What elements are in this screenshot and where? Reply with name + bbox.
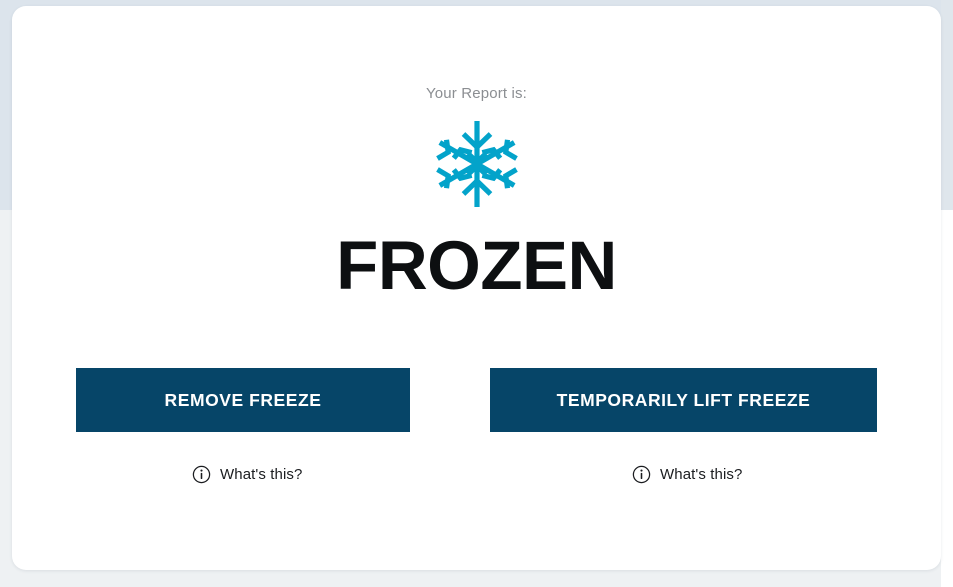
report-status-card: Your Report is:: [12, 6, 941, 570]
remove-freeze-button[interactable]: REMOVE FREEZE: [76, 368, 410, 432]
info-circle-icon: [192, 465, 211, 484]
snowflake-icon: [12, 114, 941, 214]
helper-link-label: What's this?: [220, 466, 302, 483]
action-buttons-row: REMOVE FREEZE TEMPORARILY LIFT FREEZE: [12, 368, 941, 434]
report-status-word: FROZEN: [12, 225, 941, 307]
remove-freeze-whats-this-link[interactable]: What's this?: [192, 461, 302, 487]
page-viewport: Your Report is:: [0, 0, 953, 587]
right-gutter: [941, 0, 953, 587]
info-circle-icon: [632, 465, 651, 484]
helper-link-label: What's this?: [660, 466, 742, 483]
card-content: Your Report is:: [12, 6, 941, 570]
temporarily-lift-freeze-button[interactable]: TEMPORARILY LIFT FREEZE: [490, 368, 877, 432]
scrollbar-track[interactable]: [941, 0, 953, 210]
lift-freeze-whats-this-link[interactable]: What's this?: [632, 461, 742, 487]
helper-links-row: What's this? What's this?: [12, 461, 941, 487]
page-eyebrow-label: Your Report is:: [12, 85, 941, 102]
